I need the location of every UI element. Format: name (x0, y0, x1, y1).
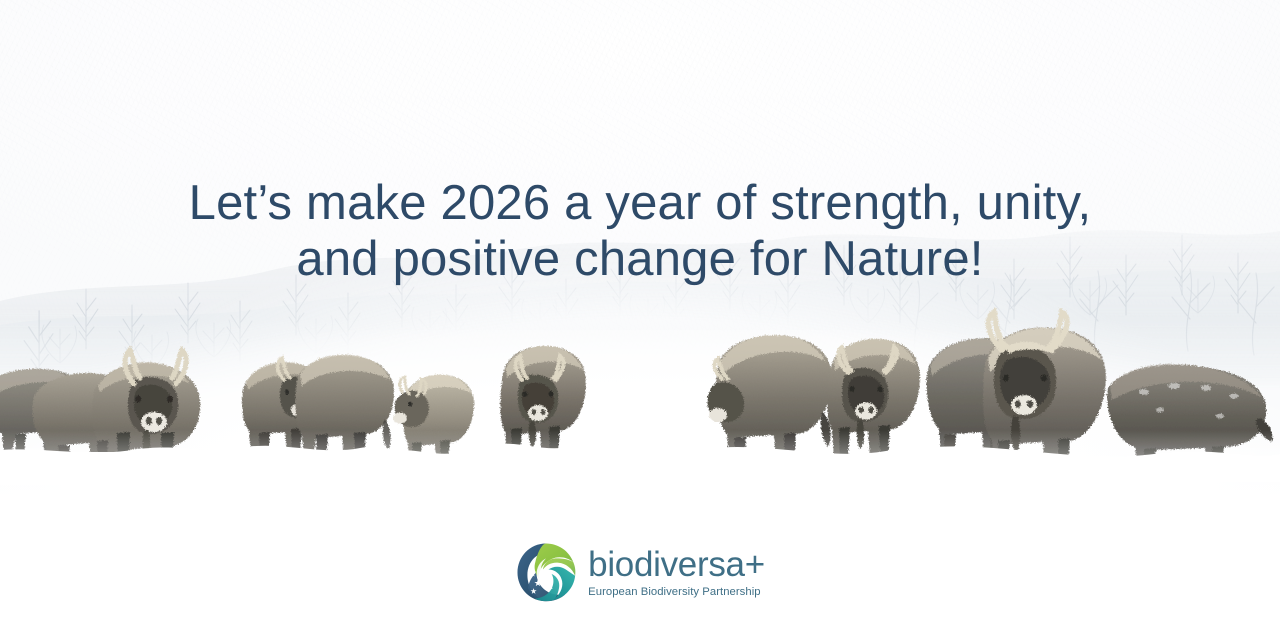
headline-line-1: Let’s make 2026 a year of strength, unit… (189, 176, 1092, 230)
biodiversa-swirl-logo (515, 541, 577, 603)
logo-wordmark: biodiversa+ (588, 547, 765, 582)
headline-line-2: and positive change for Nature! (0, 231, 1280, 287)
logo-tagline: European Biodiversity Partnership (588, 585, 765, 599)
snow-ground (0, 430, 1280, 640)
greeting-card: Let’s make 2026 a year of strength, unit… (0, 0, 1280, 640)
logo-text-block: biodiversa+ European Biodiversity Partne… (588, 545, 765, 599)
biodiversa-logo[interactable]: biodiversa+ European Biodiversity Partne… (0, 541, 1280, 603)
page-title: Let’s make 2026 a year of strength, unit… (0, 119, 1280, 343)
